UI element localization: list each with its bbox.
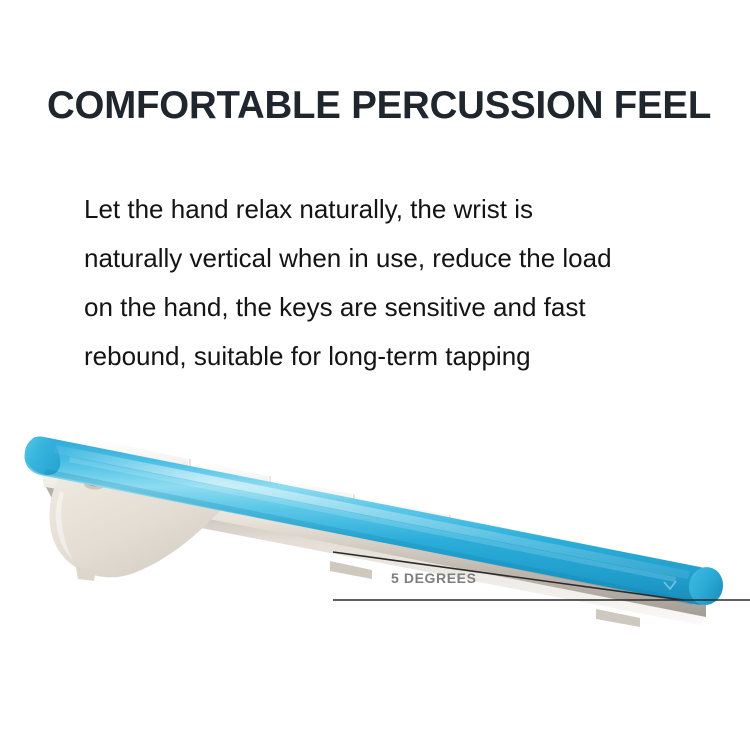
description-paragraph: Let the hand relax naturally, the wrist …	[84, 185, 684, 381]
paragraph-line: naturally vertical when in use, reduce t…	[84, 234, 684, 283]
paragraph-line: Let the hand relax naturally, the wrist …	[84, 185, 684, 234]
page-title: COMFORTABLE PERCUSSION FEEL	[47, 83, 717, 129]
paragraph-line: on the hand, the keys are sensitive and …	[84, 283, 684, 332]
angle-label: 5 DEGREES	[391, 570, 477, 586]
product-feature-panel: COMFORTABLE PERCUSSION FEEL Let the hand…	[0, 0, 750, 750]
paragraph-line: rebound, suitable for long-term tapping	[84, 332, 684, 381]
product-photo-keyboard-side-view	[0, 395, 750, 635]
